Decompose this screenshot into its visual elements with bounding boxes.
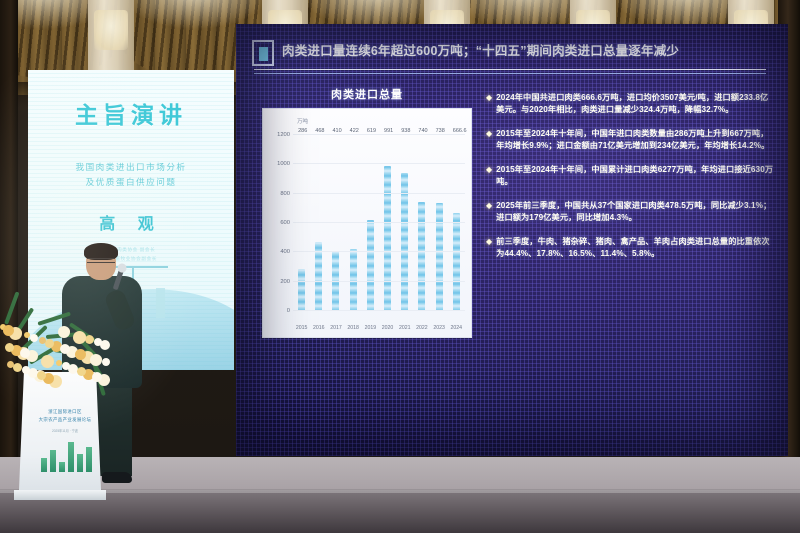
flower-blossom bbox=[13, 363, 22, 372]
flower-blossom bbox=[58, 326, 70, 338]
flower-blossom bbox=[60, 344, 70, 354]
flower-blossom bbox=[22, 366, 30, 374]
flower-blossom bbox=[45, 339, 54, 348]
flower-blossom bbox=[37, 371, 46, 380]
flower-leaf bbox=[37, 312, 71, 326]
flower-blossom bbox=[24, 332, 30, 338]
flower-blossom bbox=[90, 354, 102, 366]
banner-speaker-name: 高 观 bbox=[28, 210, 234, 234]
flower-blossom bbox=[75, 349, 86, 360]
podium-title: 浙江国际进口区 大宗农产品产业发展论坛 bbox=[33, 408, 97, 424]
flower-blossom bbox=[5, 343, 14, 352]
flower-blossom bbox=[85, 335, 94, 344]
podium-title-line1: 浙江国际进口区 bbox=[33, 408, 97, 416]
flower-blossom bbox=[3, 325, 14, 336]
flower-blossom bbox=[62, 362, 70, 370]
banner-subtitle-line2: 及优质蛋白供应问题 bbox=[28, 175, 234, 190]
banner-subtitle-line1: 我国肉类进出口市场分析 bbox=[28, 160, 234, 175]
podium: 浙江国际进口区 大宗农产品产业发展论坛 2025年11月 · 宁波 bbox=[14, 372, 106, 500]
podium-body: 浙江国际进口区 大宗农产品产业发展论坛 2025年11月 · 宁波 bbox=[19, 372, 101, 490]
flower-blossom bbox=[30, 334, 38, 342]
podium-date: 2025年11月 · 宁波 bbox=[33, 428, 97, 433]
flower-blossom bbox=[73, 331, 86, 344]
flower-blossom bbox=[102, 358, 110, 366]
speaker-shoe bbox=[102, 472, 132, 483]
podium-base bbox=[14, 490, 106, 500]
flower-blossom bbox=[20, 348, 30, 358]
glasses-icon bbox=[87, 258, 115, 263]
flower-blossom bbox=[77, 367, 86, 376]
banner-subtitle: 我国肉类进出口市场分析 及优质蛋白供应问题 bbox=[28, 160, 234, 190]
flower-blossom bbox=[56, 360, 62, 366]
screenshot-root: 肉类进口量连续6年超过600万吨；“十四五”期间肉类进口总量逐年减少 肉类进口总… bbox=[0, 0, 800, 533]
flower-blossom bbox=[39, 337, 46, 344]
led-presentation-screen: 肉类进口量连续6年超过600万吨；“十四五”期间肉类进口总量逐年减少 肉类进口总… bbox=[236, 24, 788, 456]
banner-title: 主旨演讲 bbox=[28, 96, 234, 130]
podium-title-line2: 大宗农产品产业发展论坛 bbox=[33, 416, 97, 424]
flower-arrangement bbox=[0, 314, 114, 388]
led-vignette bbox=[236, 24, 788, 456]
flower-blossom bbox=[92, 372, 102, 382]
podium-chart-graphic bbox=[35, 438, 97, 472]
flower-blossom bbox=[41, 355, 54, 368]
flower-blossom bbox=[7, 361, 14, 368]
flower-blossom bbox=[94, 338, 102, 346]
